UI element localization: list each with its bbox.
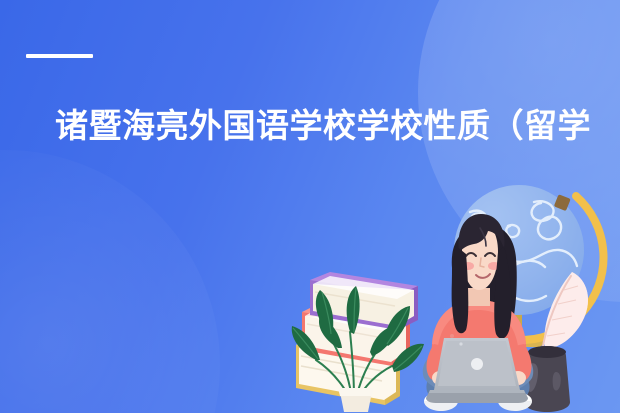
accent-rule <box>26 54 93 58</box>
decorative-blob-right <box>418 0 620 302</box>
book-stack <box>296 272 418 405</box>
quill-feather <box>539 272 588 366</box>
book-bottom <box>296 336 400 405</box>
article-cover-banner: 诸暨海亮外国语学校学校性质（留学 <box>0 0 620 413</box>
quill-and-inkpot <box>524 272 588 412</box>
student-studying-illustration <box>0 0 620 413</box>
book-middle <box>302 303 410 366</box>
book-top <box>310 272 418 330</box>
globe-icon <box>454 185 604 347</box>
inkpot <box>524 346 570 412</box>
laptop <box>426 338 528 403</box>
page-title: 诸暨海亮外国语学校学校性质（留学 <box>55 103 620 149</box>
decorative-blob-left <box>0 150 220 413</box>
potted-plant <box>292 286 424 412</box>
legs <box>423 352 533 411</box>
girl-with-laptop <box>423 214 533 411</box>
